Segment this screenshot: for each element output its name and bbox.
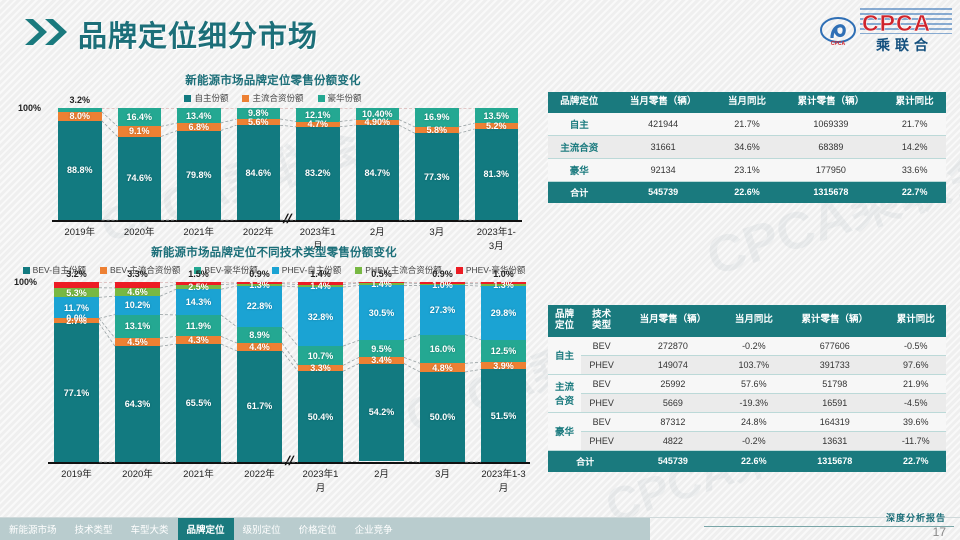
bar-segment: 84.7% [356,125,400,220]
table-group-label: 豪华 [548,412,581,450]
table-cell: 51798 [784,374,885,393]
table-brand-position-summary: 品牌定位当月零售（辆）当月同比累计零售（辆）累计同比自主42194421.7%1… [548,92,946,203]
table-cell: 87312 [622,412,723,431]
bar-segment: 77.3% [415,133,459,220]
stacked-bar: 13.4%6.8%79.8% [177,108,221,220]
bar-segment: 4.4% [237,343,282,351]
table-cell: BEV [581,412,622,431]
table-cell: 13631 [784,431,885,450]
bar-column: 16.9%5.8%77.3% [415,108,459,220]
footer-nav[interactable]: 新能源市场技术类型车型大类品牌定位级别定位价格定位企业竞争 [0,518,650,540]
table-cell: 34.6% [716,135,779,158]
bar-segment-label: 3.3% [310,363,331,373]
table-total-cell: 22.6% [716,181,779,203]
bar-top-label: 3.3% [115,269,160,279]
table-row-label: 主流合资 [548,135,611,158]
logo-brand-text: CPCA [862,10,931,37]
bar-segment-label: 13.1% [125,321,151,331]
table-cell: 21.7% [716,113,779,136]
y-axis-tick-100: 100% [18,103,41,113]
bar-segment: 16.4% [118,108,162,126]
bar-segment-label: 6.8% [188,122,209,132]
bar-column: 9.8%5.6%84.6% [237,108,281,220]
bar-segment-label: 4.8% [432,363,453,373]
table-cell: PHEV [581,431,622,450]
bar-column: 3.3%4.6%10.2%13.1%4.5%64.3% [115,282,160,462]
table-cell: 5669 [622,393,723,412]
footer-nav-item-item[interactable]: 车型大类 [122,518,178,540]
bar-segment-label: 10.7% [308,351,334,361]
table-cell: 57.6% [724,374,784,393]
stacked-bar: 1.5%2.5%14.3%11.9%4.3%65.5% [176,282,221,462]
table-cell: 4822 [622,431,723,450]
table-header-cell: 当月同比 [716,92,779,113]
table-cell: -19.3% [724,393,784,412]
bar-segment-label: 16.9% [424,112,450,122]
table-cell: 21.9% [886,374,947,393]
table-row-label: 自主 [548,113,611,136]
x-axis-label: 2月 [359,466,404,494]
bar-segment: 3.9% [481,362,526,369]
bar-segment-label: 50.4% [308,412,334,422]
table-row: 自主BEV272870-0.2%677606-0.5% [548,337,946,356]
table-row: 主流合资3166134.6%6838914.2% [548,135,946,158]
page-number: 17 [933,525,946,539]
table-header-cell: 品牌定位 [548,305,581,337]
table-cell: 421944 [611,113,716,136]
bar-segment: 77.1% [54,323,99,462]
bar-segment-label: 74.6% [126,173,152,183]
table-cell: -0.2% [724,431,784,450]
y-axis-tick-100: 100% [14,277,37,287]
table-cell: 39.6% [886,412,947,431]
stacked-bar: 1.4%1.4%32.8%10.7%3.3%50.4% [298,282,343,462]
table-total-cell: 22.7% [886,450,947,472]
table-total-cell: 1315678 [784,450,885,472]
bar-segment-label: 54.2% [369,407,395,417]
bar-segment-label: 13.5% [483,111,509,121]
table-header-cell: 品牌定位 [548,92,611,113]
bar-segment-label: 8.0% [69,111,90,121]
table-total-row: 合计54573922.6%131567822.7% [548,450,946,472]
bar-segment-label: 2.5% [188,282,209,292]
page-title: 品牌定位细分市场 [78,13,318,55]
double-chevron-right-icon [24,17,70,47]
stacked-bar: 9.8%5.6%84.6% [237,108,281,220]
legend-swatch [318,95,325,102]
table-group-label: 主流合资 [548,374,581,412]
legend-item: 豪华份额 [318,92,362,104]
bar-segment-label: 4.7% [307,119,328,129]
table-header-cell: 当月零售（辆） [611,92,716,113]
bar-column: 0.9%1.3%22.8%8.9%4.4%61.7% [237,282,282,462]
bar-top-label: 3.2% [54,269,99,279]
logo-brand-cn: 乘联合 [876,35,933,55]
bar-segment-label: 4.6% [127,287,148,297]
footer-right-rule [704,526,954,527]
bar-segment: 32.8% [298,287,343,346]
bar-segment-label: 51.5% [491,411,517,421]
bar-segment: 6.8% [177,123,221,131]
bar-segment: 83.2% [296,127,340,220]
x-axis-label: 3月 [420,466,465,494]
table-row: PHEV5669-19.3%16591-4.5% [548,393,946,412]
slide-footer: 新能源市场技术类型车型大类品牌定位级别定位价格定位企业竞争 深度分析报告 17 [0,506,960,540]
bar-segment: 8.9% [237,327,282,343]
stacked-bar: 10.40%4.90%84.7% [356,108,400,220]
bar-segment-label: 2.7% [66,316,87,326]
bar-column: 0.9%1.0%27.3%16.0%4.8%50.0% [420,282,465,462]
bar-segment-label: 3.9% [493,361,514,371]
bar-column: 13.4%6.8%79.8% [177,108,221,220]
chart2-title: 新能源市场品牌定位不同技术类型零售份额变化 [14,244,534,260]
cpca-logo: CPCA CPCA 乘联合 [816,6,952,54]
bar-segment-label: 1.4% [310,281,331,291]
bar-segment-label: 12.5% [491,346,517,356]
bar-segment-label: 4.5% [127,337,148,347]
bar-segment: 79.8% [177,131,221,220]
stacked-bar: 0.9%1.3%22.8%8.9%4.4%61.7% [237,282,282,462]
table-cell: 272870 [622,337,723,356]
bar-segment-label: 14.3% [186,297,212,307]
bar-segment-label: 32.8% [308,312,334,322]
table-row: PHEV149074103.7%39173397.6% [548,355,946,374]
bar-segment-label: 4.4% [249,342,270,352]
bar-segment-label: 81.3% [483,169,509,179]
bar-segment-label: 5.3% [66,288,87,298]
bar-column: 0.5%1.4%30.5%9.5%3.4%54.2% [359,282,404,462]
cpca-swirl-logo-icon: CPCA [820,12,856,48]
stacked-bar: 13.5%5.2%81.3% [475,108,519,220]
table-cell: BEV [581,374,622,393]
x-axis-label: 2023年1月 [298,466,343,494]
legend-swatch [100,267,107,274]
table-cell: 16591 [784,393,885,412]
table-cell: 23.1% [716,158,779,181]
bar-segment-label: 1.3% [249,280,270,290]
stacked-bar: 3.2%8.0%88.8% [58,108,102,220]
bar-column: 16.4%9.1%74.6% [118,108,162,220]
bar-segment: 50.4% [298,371,343,462]
table-row-label: 豪华 [548,158,611,181]
bar-segment-label: 84.7% [364,168,390,178]
bar-top-label: 1.5% [176,269,221,279]
bar-segment: 12.5% [481,340,526,363]
bar-segment: 9.1% [118,126,162,136]
bar-column: 3.2%8.0%88.8% [58,108,102,220]
table-header-cell: 累计零售（辆） [784,305,885,337]
bar-segment-label: 3.4% [371,355,392,365]
bar-segment: 84.6% [237,125,281,220]
stacked-bar: 1.0%1.3%29.8%12.5%3.9%51.5% [481,282,526,462]
stacked-bar: 3.3%4.6%10.2%13.1%4.5%64.3% [115,282,160,462]
bar-segment: 8.0% [58,112,102,121]
bar-segment-label: 88.8% [67,165,93,175]
bar-segment: 64.3% [115,346,160,462]
bar-segment: 29.8% [481,286,526,340]
table-cell: -11.7% [886,431,947,450]
table-cell: BEV [581,337,622,356]
bar-segment-label: 13.4% [186,111,212,121]
bar-segment: 81.3% [475,129,519,220]
stacked-bar: 16.4%9.1%74.6% [118,108,162,220]
legend-item: 自主份额 [184,92,228,104]
footer-nav-item-item[interactable]: 级别定位 [234,518,290,540]
bar-segment: 4.5% [115,338,160,346]
table-cell: 25992 [622,374,723,393]
bar-top-label: 0.9% [420,269,465,279]
bar-segment-label: 83.2% [305,168,331,178]
bar-segment-label: 22.8% [247,301,273,311]
bar-segment: 88.8% [58,121,102,220]
bar-column: 13.5%5.2%81.3% [475,108,519,220]
table-group-label: 自主 [548,337,581,375]
footer-nav-item-item[interactable]: 企业竞争 [346,518,402,540]
bar-segment: 22.8% [237,286,282,327]
bar-segment: 5.3% [54,288,99,298]
bar-segment: 51.5% [481,369,526,462]
bar-segment: 65.5% [176,344,221,462]
table-cell: -0.2% [724,337,784,356]
bar-segment: 30.5% [359,285,404,340]
table-cell: 24.8% [724,412,784,431]
chart1-title: 新能源市场品牌定位零售份额变化 [18,72,528,88]
bar-top-label: 3.2% [58,95,102,105]
bar-segment: 4.6% [115,288,160,296]
bar-segment-label: 64.3% [125,399,151,409]
x-axis-label: 2020年 [115,466,160,494]
table-total-cell: 合计 [548,181,611,203]
table-cell: PHEV [581,355,622,374]
bar-segment-label: 79.8% [186,170,212,180]
table-total-row: 合计54573922.6%131567822.7% [548,181,946,203]
bar-column: 1.4%1.4%32.8%10.7%3.3%50.4% [298,282,343,462]
bar-segment-label: 77.3% [424,172,450,182]
bar-segment-label: 5.2% [486,121,507,131]
table-row: PHEV4822-0.2%13631-11.7% [548,431,946,450]
bar-segment-label: 77.1% [64,388,90,398]
table-cell: -0.5% [886,337,947,356]
bar-segment-label: 11.7% [64,303,89,313]
footer-nav-item-item[interactable]: 新能源市场 [0,518,66,540]
x-axis-label: 2019年 [54,466,99,494]
bar-segment-label: 30.5% [369,308,395,318]
x-axis-label: 2021年 [176,466,221,494]
bar-segment-label: 11.9% [186,321,211,331]
legend-swatch [184,95,191,102]
table-cell: 103.7% [724,355,784,374]
bar-segment: 61.7% [237,351,282,462]
bar-segment-label: 4.3% [188,335,209,345]
table-total-cell: 22.7% [883,181,946,203]
table-brand-position-tech-detail: 品牌定位技术类型当月零售（辆）当月同比累计零售（辆）累计同比自主BEV27287… [548,305,946,472]
bar-segment: 14.3% [176,289,221,315]
bar-segment-label: 5.6% [248,117,269,127]
table-row: 自主42194421.7%106933921.7% [548,113,946,136]
bar-segment-label: 10.2% [125,300,151,310]
footer-right-label: 深度分析报告 [886,511,946,524]
table-cell: 33.6% [883,158,946,181]
table-cell: 92134 [611,158,716,181]
table-header-row: 品牌定位技术类型当月零售（辆）当月同比累计零售（辆）累计同比 [548,305,946,337]
bar-segment-label: 4.90% [364,117,390,127]
legend-swatch [242,95,249,102]
bar-segment-label: 16.0% [430,344,456,354]
table-cell: PHEV [581,393,622,412]
table-total-cell: 545739 [611,181,716,203]
bar-segment: 11.9% [176,315,221,336]
bar-top-label: 1.0% [481,269,526,279]
bar-column: 12.1%4.7%83.2% [296,108,340,220]
bar-segment-label: 27.3% [430,305,456,315]
table-cell: 14.2% [883,135,946,158]
legend-label: 豪华份额 [328,92,362,104]
x-axis-label: 2023年1-3月 [481,466,526,494]
legend-label: 自主份额 [194,92,228,104]
table-header-cell: 累计同比 [883,92,946,113]
bar-segment-label: 1.3% [493,280,514,290]
footer-nav-item-item[interactable]: 技术类型 [66,518,122,540]
bar-segment: 13.4% [177,108,221,123]
table-cell: 177950 [778,158,883,181]
bar-segment-label: 29.8% [491,308,517,318]
legend-swatch [23,267,30,274]
bar-top-label: 0.5% [359,269,404,279]
svg-text:CPCA: CPCA [831,41,846,47]
bar-segment: 16.0% [420,335,465,364]
table-cell: 149074 [622,355,723,374]
legend-label: 主流合资份额 [252,92,303,104]
bar-segment: 4.8% [420,363,465,372]
table-total-cell: 22.6% [724,450,784,472]
bar-segment-label: 1.0% [432,280,453,290]
legend-item: 主流合资份额 [242,92,303,104]
bar-segment-label: 9.1% [129,126,150,136]
bar-segment: 54.2% [359,364,404,462]
bar-column: 1.0%1.3%29.8%12.5%3.9%51.5% [481,282,526,462]
bar-segment-label: 5.8% [426,125,447,135]
slide: 品牌定位细分市场 CPCA CPCA 乘联合 新能源市场品牌定位零售份额变化 自… [0,0,960,540]
table-row: 豪华BEV8731224.8%16431939.6% [548,412,946,431]
bar-column: 10.40%4.90%84.7% [356,108,400,220]
bar-segment-label: 16.4% [126,112,152,122]
bar-segment: 74.6% [118,137,162,220]
table-header-row: 品牌定位当月零售（辆）当月同比累计零售（辆）累计同比 [548,92,946,113]
table-cell: 1069339 [778,113,883,136]
footer-nav-item-active[interactable]: 品牌定位 [178,518,234,540]
stacked-bar: 12.1%4.7%83.2% [296,108,340,220]
bar-segment: 4.3% [176,336,221,344]
bar-column: 1.5%2.5%14.3%11.9%4.3%65.5% [176,282,221,462]
bar-segment-label: 84.6% [245,168,271,178]
chart-brand-position-retail-share: 新能源市场品牌定位零售份额变化 自主份额主流合资份额豪华份额 100%3.2%8… [18,72,528,232]
bar-segment: 27.3% [420,285,465,334]
table-header-cell: 技术类型 [581,305,622,337]
bar-top-label: 1.4% [298,269,343,279]
table-cell: 391733 [784,355,885,374]
bar-top-label: 0.9% [237,269,282,279]
table-total-label: 合计 [548,450,622,472]
table-row: 豪华9213423.1%17795033.6% [548,158,946,181]
bar-segment: 50.0% [420,372,465,462]
table-cell: 68389 [778,135,883,158]
table-header-cell: 累计同比 [886,305,947,337]
bar-segment: 13.1% [115,315,160,339]
bar-segment-label: 9.5% [371,344,392,354]
bar-segment-label: 8.9% [249,330,270,340]
bar-segment-label: 65.5% [186,398,212,408]
table-cell: 164319 [784,412,885,431]
table-header-cell: 当月同比 [724,305,784,337]
x-axis-labels: 2019年2020年2021年2022年2023年1月2月3月2023年1-3月 [54,466,526,494]
stacked-bar: 16.9%5.8%77.3% [415,108,459,220]
footer-nav-item-item[interactable]: 价格定位 [290,518,346,540]
table-cell: 21.7% [883,113,946,136]
x-axis-label: 2022年 [237,466,282,494]
stacked-bar: 3.2%5.3%11.7%0.0%2.7%77.1% [54,282,99,462]
bar-segment-label: 61.7% [247,401,273,411]
table-header-cell: 当月零售（辆） [622,305,723,337]
bar-segment: 10.2% [115,296,160,314]
stacked-bar: 0.5%1.4%30.5%9.5%3.4%54.2% [359,282,404,462]
table-row: 主流合资BEV2599257.6%5179821.9% [548,374,946,393]
table-cell: 31661 [611,135,716,158]
table-cell: 97.6% [886,355,947,374]
table-header-cell: 累计零售（辆） [778,92,883,113]
bar-segment-label: 1.4% [371,279,392,289]
chart-brand-position-tech-type-retail-share: 新能源市场品牌定位不同技术类型零售份额变化 BEV-自主份额BEV-主流合资份额… [14,244,534,494]
stacked-bar: 0.9%1.0%27.3%16.0%4.8%50.0% [420,282,465,462]
table-cell: 677606 [784,337,885,356]
table-total-cell: 1315678 [778,181,883,203]
table-cell: -4.5% [886,393,947,412]
table-total-cell: 545739 [622,450,723,472]
bar-column: 3.2%5.3%11.7%0.0%2.7%77.1% [54,282,99,462]
slide-header: 品牌定位细分市场 CPCA CPCA 乘联合 [0,0,960,62]
bar-segment-label: 50.0% [430,412,456,422]
